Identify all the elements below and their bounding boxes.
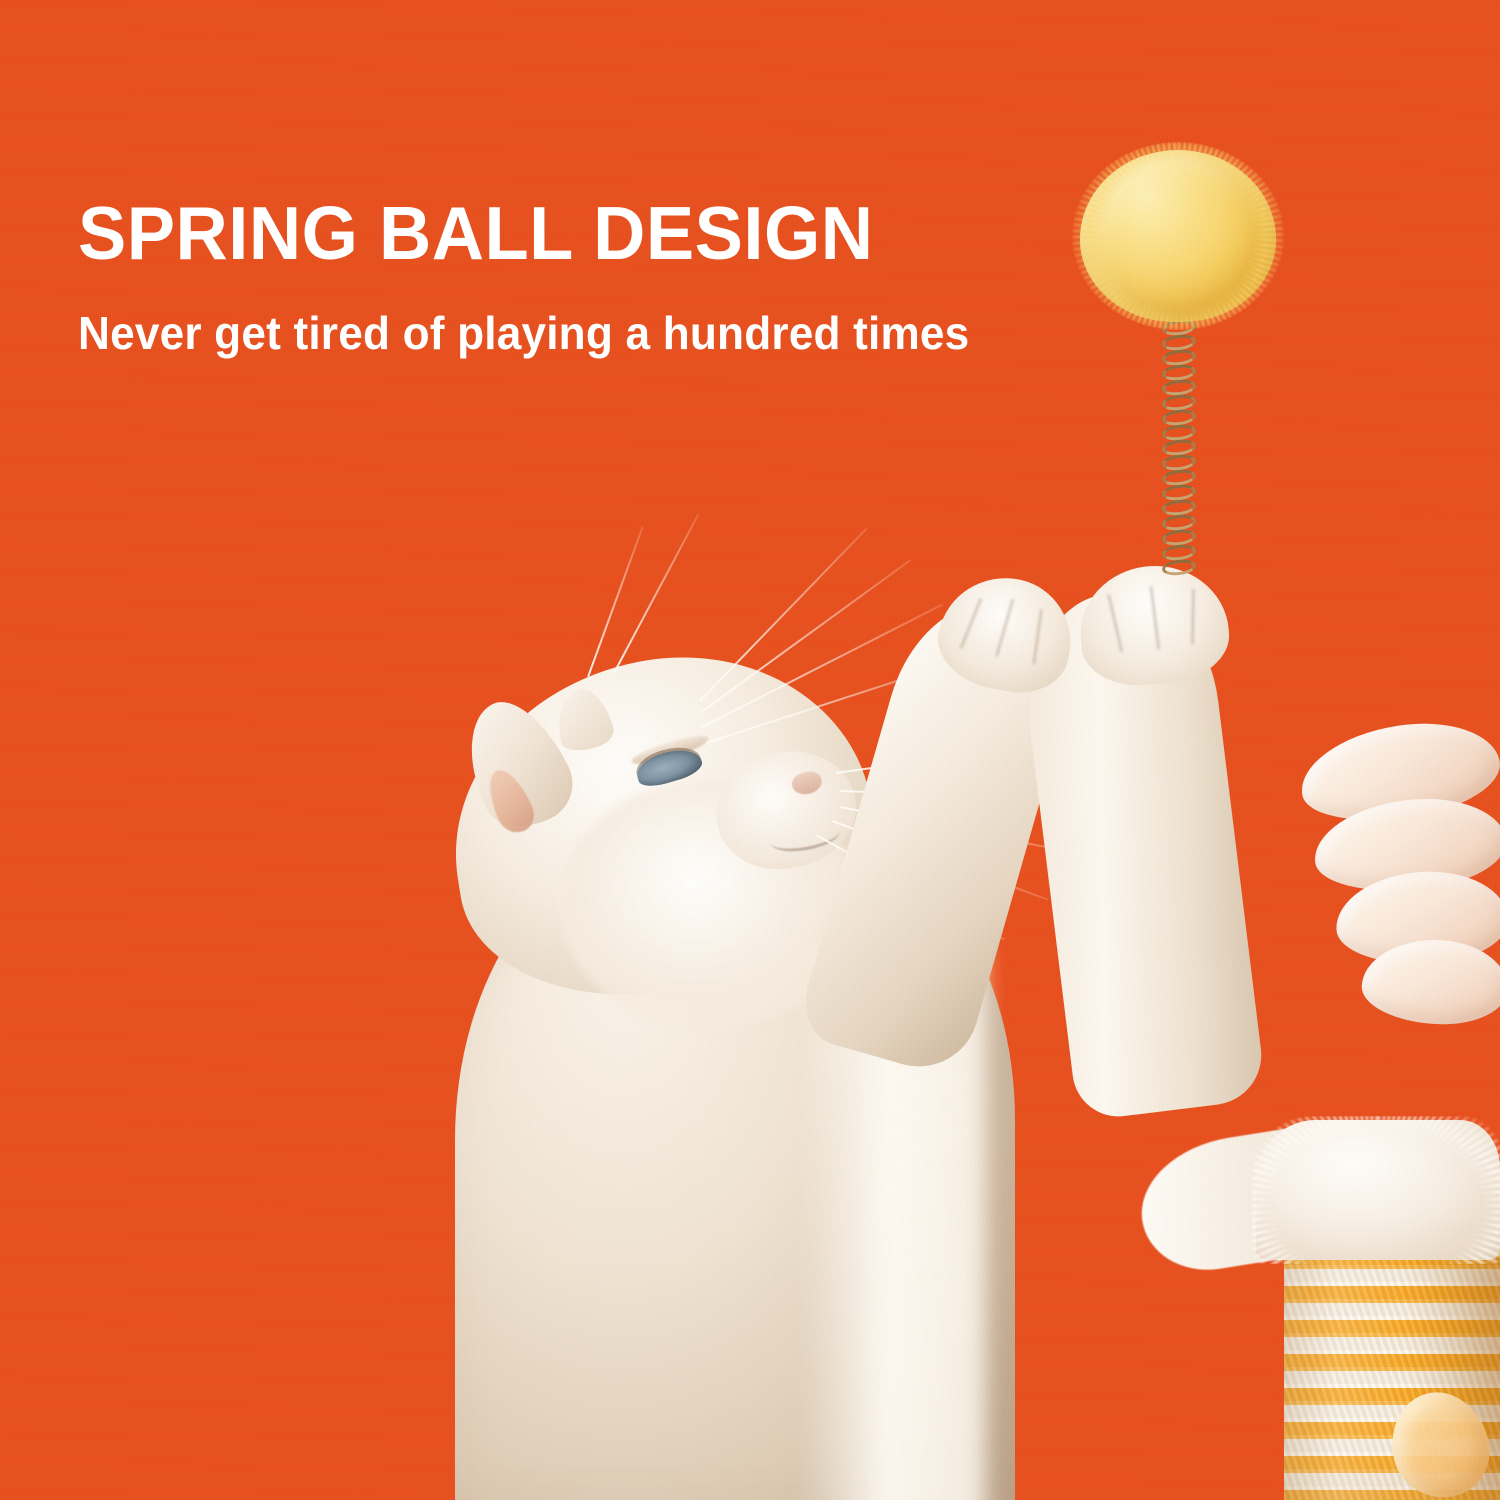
cat-paw-far-right	[1296, 722, 1500, 1022]
yellow-pom-pom-ball	[1080, 150, 1276, 322]
subheadline-text: Never get tired of playing a hundred tim…	[78, 309, 1048, 357]
product-marketing-image: SPRING BALL DESIGN Never get tired of pl…	[0, 0, 1500, 1500]
coil-spring	[1162, 305, 1196, 577]
headline-text: SPRING BALL DESIGN	[78, 196, 1053, 271]
marketing-copy: SPRING BALL DESIGN Never get tired of pl…	[78, 196, 1088, 357]
spring-ball-toy	[1068, 145, 1298, 585]
plush-fur-platform	[1256, 1120, 1500, 1260]
